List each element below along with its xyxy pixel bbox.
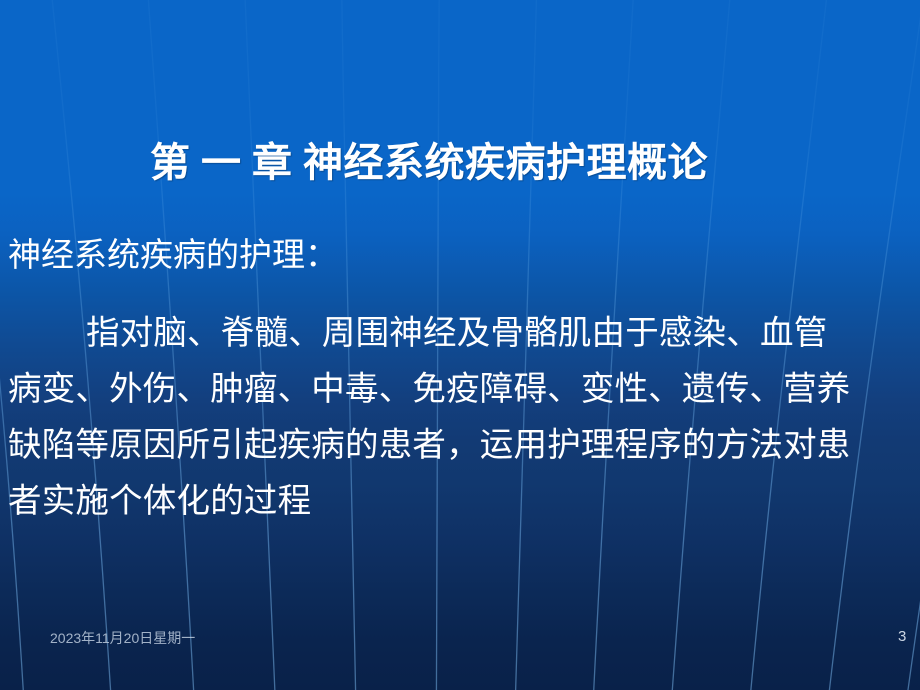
footer-date: 2023年11月20日星期一 [50,628,195,648]
presentation-slide: 第 一 章 神经系统疾病护理概论 神经系统疾病的护理： 指对脑、脊髓、周围神经及… [0,0,920,690]
slide-body: 神经系统疾病的护理： 指对脑、脊髓、周围神经及骨骼肌由于感染、血管 病变、外伤、… [8,228,914,530]
footer-page-number: 3 [898,628,906,645]
body-lead-line: 神经系统疾病的护理： [8,228,914,284]
body-paragraph: 指对脑、脊髓、周围神经及骨骼肌由于感染、血管 病变、外伤、肿瘤、中毒、免疫障碍、… [8,306,914,530]
paragraph-line: 缺陷等原因所引起疾病的患者，运用护理程序的方法对患 [8,418,914,474]
paragraph-line: 病变、外伤、肿瘤、中毒、免疫障碍、变性、遗传、营养 [8,362,914,418]
paragraph-line: 者实施个体化的过程 [8,474,914,530]
slide-title: 第 一 章 神经系统疾病护理概论 [150,139,708,187]
paragraph-line: 指对脑、脊髓、周围神经及骨骼肌由于感染、血管 [8,306,914,362]
